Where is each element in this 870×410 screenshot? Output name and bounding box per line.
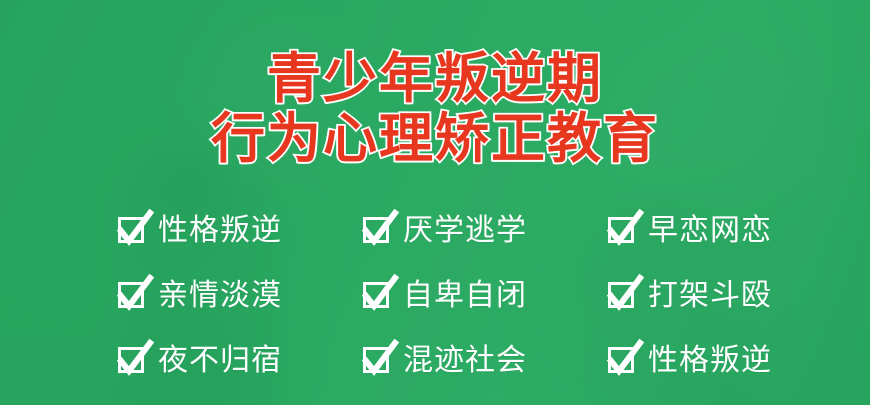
- headline-line-1: 青少年叛逆期: [0, 52, 870, 106]
- checklist-item-label: 混迹社会: [403, 346, 527, 376]
- checked-checkbox-icon[interactable]: [118, 280, 149, 311]
- checklist-item-label: 性格叛逆: [648, 346, 772, 376]
- headline: 青少年叛逆期 行为心理矫正教育: [0, 52, 870, 166]
- checked-checkbox-icon[interactable]: [363, 215, 394, 246]
- checklist-item-4[interactable]: 自卑自闭: [363, 263, 608, 328]
- checklist-item-label: 性格叛逆: [158, 216, 282, 246]
- checked-checkbox-icon[interactable]: [608, 280, 639, 311]
- checklist-item-1[interactable]: 厌学逃学: [363, 198, 608, 263]
- checked-checkbox-icon[interactable]: [608, 215, 639, 246]
- checklist-item-7[interactable]: 混迹社会: [363, 328, 608, 393]
- checklist-item-label: 自卑自闭: [403, 281, 527, 311]
- checklist-item-label: 夜不归宿: [158, 346, 282, 376]
- checklist-item-8[interactable]: 性格叛逆: [608, 328, 853, 393]
- checklist-item-0[interactable]: 性格叛逆: [118, 198, 363, 263]
- checklist-item-5[interactable]: 打架斗殴: [608, 263, 853, 328]
- checklist-item-6[interactable]: 夜不归宿: [118, 328, 363, 393]
- headline-line-2: 行为心理矫正教育: [0, 112, 870, 166]
- promo-banner: 青少年叛逆期 行为心理矫正教育 性格叛逆: [0, 0, 870, 410]
- checklist-item-label: 早恋网恋: [648, 216, 772, 246]
- checked-checkbox-icon[interactable]: [363, 280, 394, 311]
- checklist-item-label: 厌学逃学: [403, 216, 527, 246]
- checklist-item-3[interactable]: 亲情淡漠: [118, 263, 363, 328]
- checked-checkbox-icon[interactable]: [363, 345, 394, 376]
- checklist-item-label: 亲情淡漠: [158, 281, 282, 311]
- checked-checkbox-icon[interactable]: [608, 345, 639, 376]
- checklist-item-label: 打架斗殴: [648, 281, 772, 311]
- checked-checkbox-icon[interactable]: [118, 215, 149, 246]
- banner-content: 青少年叛逆期 行为心理矫正教育 性格叛逆: [0, 0, 870, 410]
- checklist-item-2[interactable]: 早恋网恋: [608, 198, 853, 263]
- bottom-white-strip: [0, 405, 870, 410]
- behavior-checklist: 性格叛逆 厌学逃学 早恋网恋: [118, 198, 858, 393]
- checked-checkbox-icon[interactable]: [118, 345, 149, 376]
